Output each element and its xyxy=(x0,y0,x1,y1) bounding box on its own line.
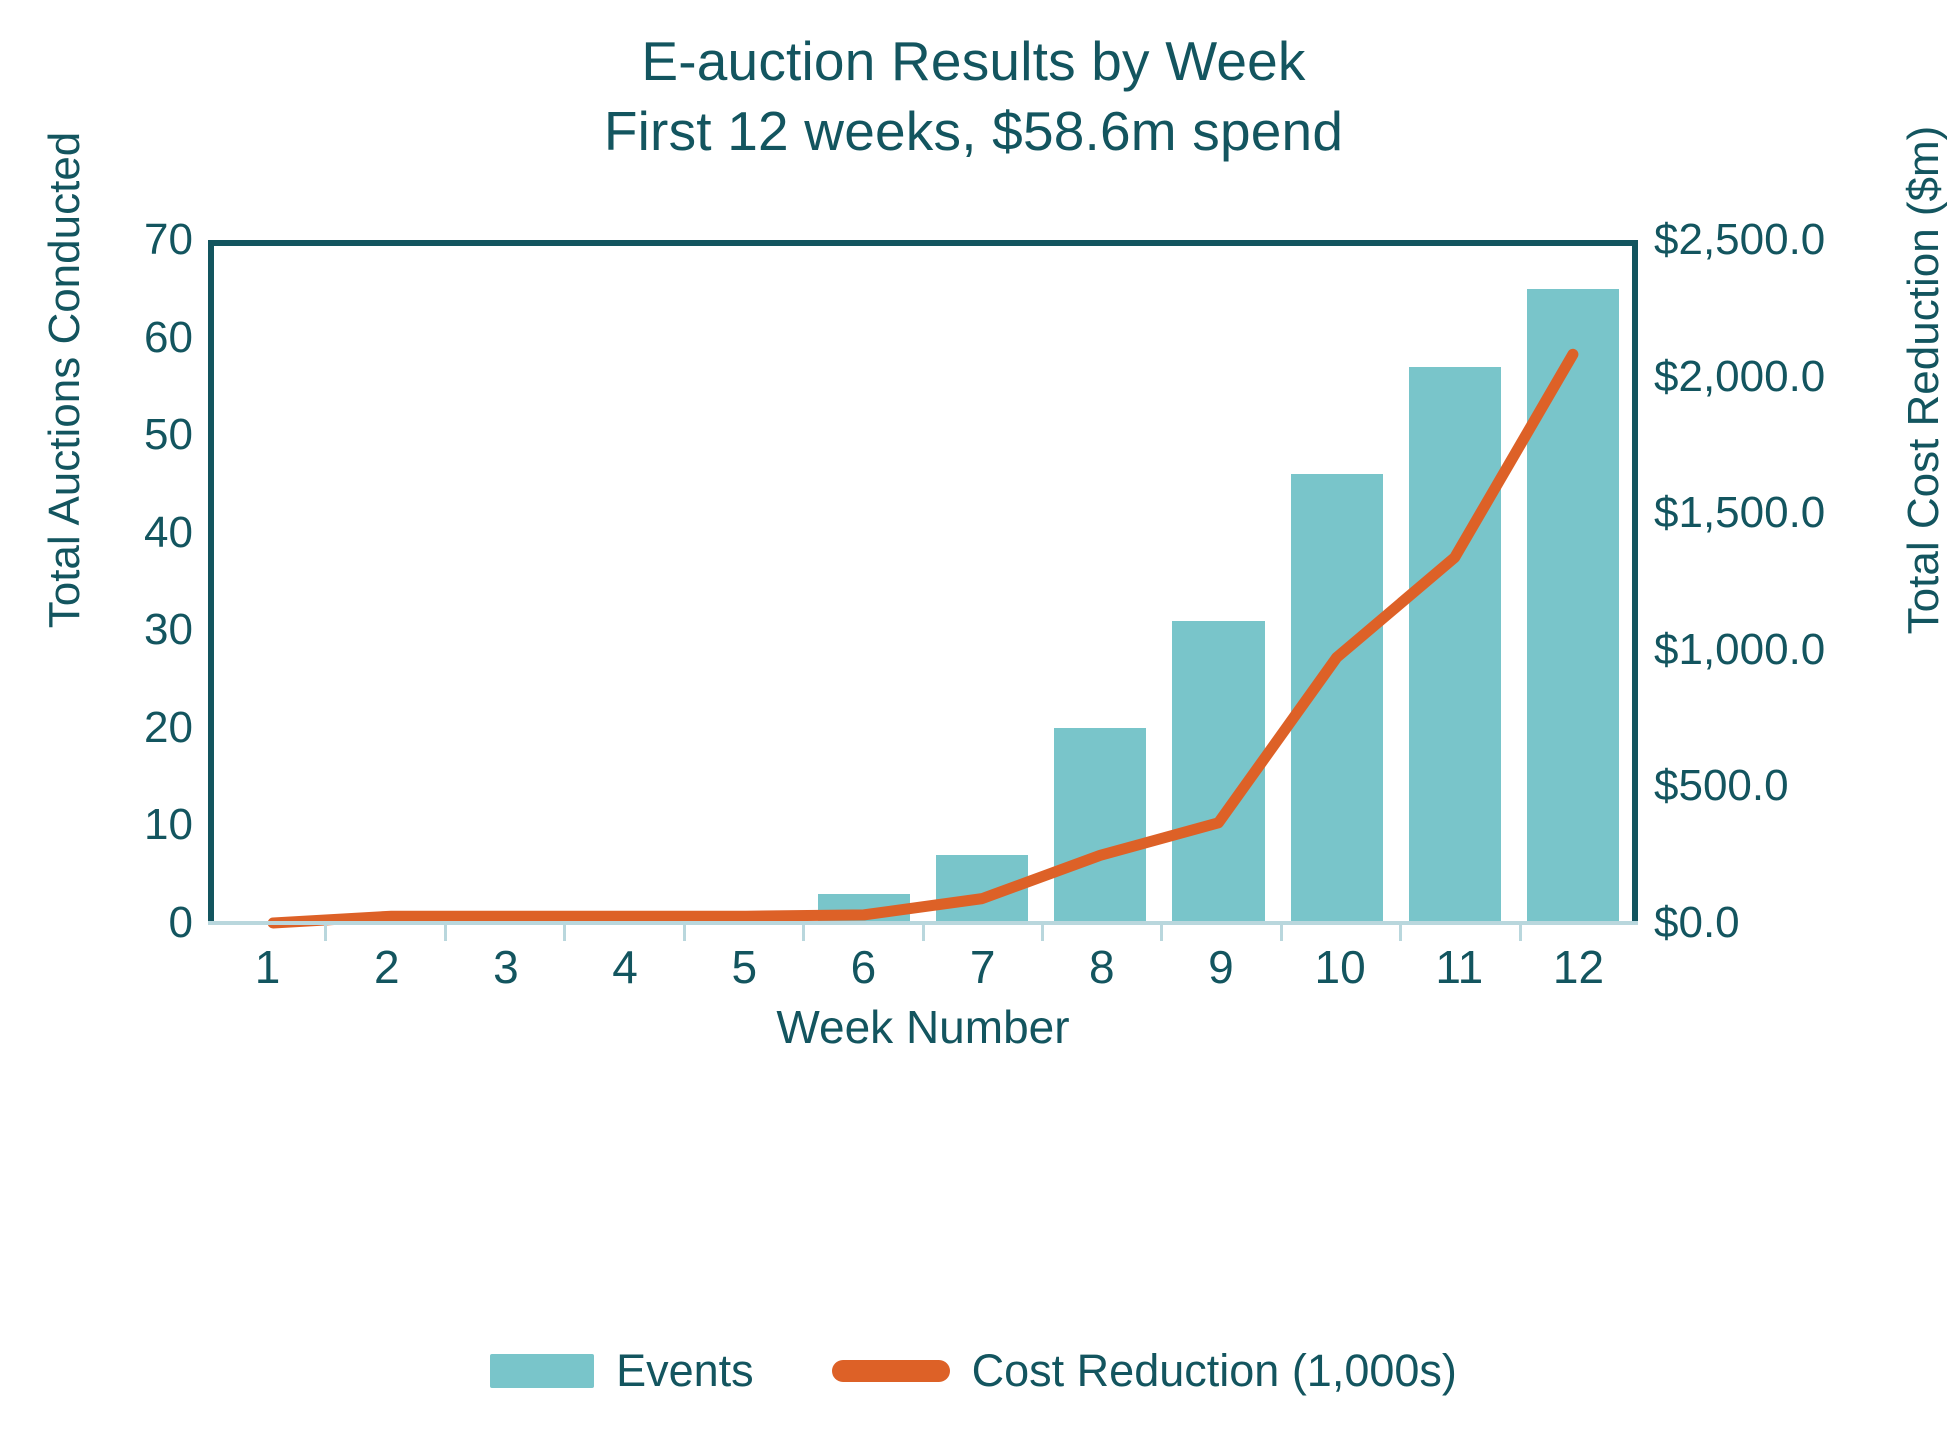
y-axis-left-ticks: 706050403020100 xyxy=(28,240,193,923)
y-axis-right-tick-label: $2,000.0 xyxy=(1654,352,1825,402)
x-axis-tick-label-5: 5 xyxy=(685,940,804,994)
y-axis-right-ticks: $2,500.0$2,000.0$1,500.0$1,000.0$500.0$0… xyxy=(1654,240,1884,923)
legend-label: Events xyxy=(616,1345,754,1397)
chart-title-line-1: E-auction Results by Week xyxy=(0,26,1947,96)
x-axis-tick-label-2: 2 xyxy=(327,940,446,994)
chart-title-line-2: First 12 weeks, $58.6m spend xyxy=(0,96,1947,166)
y-axis-left-tick-label: 40 xyxy=(144,508,193,558)
x-axis-tickmark xyxy=(208,925,324,941)
x-axis-title: Week Number xyxy=(208,1000,1638,1054)
chart-title: E-auction Results by Week First 12 weeks… xyxy=(0,26,1947,167)
y-axis-left-tick-label: 30 xyxy=(144,605,193,655)
plot-area xyxy=(208,240,1638,923)
y-axis-left-tick-label: 50 xyxy=(144,410,193,460)
x-axis-tickmark xyxy=(1519,925,1638,941)
x-axis-tickmark xyxy=(683,925,802,941)
y-axis-left-tick-label: 70 xyxy=(144,215,193,265)
chart-legend: EventsCost Reduction (1,000s) xyxy=(0,1345,1947,1397)
y-axis-right-tick-label: $2,500.0 xyxy=(1654,215,1825,265)
x-axis-tick-label-11: 11 xyxy=(1400,940,1519,994)
y-axis-left-tick-label: 0 xyxy=(169,898,193,948)
x-axis-tick-label-6: 6 xyxy=(804,940,923,994)
legend-line-swatch-icon xyxy=(832,1360,950,1382)
legend-bar-swatch-icon xyxy=(490,1354,594,1388)
chart-container: E-auction Results by Week First 12 weeks… xyxy=(0,0,1947,1452)
cost-reduction-polyline xyxy=(273,354,1573,923)
x-axis-tick-label-1: 1 xyxy=(208,940,327,994)
x-axis-tick-label-8: 8 xyxy=(1042,940,1161,994)
x-axis-tickmark xyxy=(1280,925,1399,941)
y-axis-left-tick-label: 10 xyxy=(144,800,193,850)
x-axis-tick-label-10: 10 xyxy=(1281,940,1400,994)
x-axis-tickmarks xyxy=(208,925,1638,941)
legend-label: Cost Reduction (1,000s) xyxy=(972,1345,1457,1397)
x-axis-tickmark xyxy=(802,925,921,941)
y-axis-right-tick-label: $500.0 xyxy=(1654,761,1789,811)
x-axis-tick-label-12: 12 xyxy=(1519,940,1638,994)
y-axis-right-tick-label: $1,000.0 xyxy=(1654,625,1825,675)
x-axis-tick-label-4: 4 xyxy=(566,940,685,994)
y-axis-right-tick-label: $1,500.0 xyxy=(1654,488,1825,538)
y-axis-right-tick-label: $0.0 xyxy=(1654,898,1740,948)
x-axis-tickmark xyxy=(563,925,682,941)
y-axis-right-title: Total Cost Reduction ($m) xyxy=(1899,70,1947,690)
x-axis-tickmark xyxy=(1041,925,1160,941)
y-axis-left-tick-label: 20 xyxy=(144,703,193,753)
x-axis-tickmark xyxy=(444,925,563,941)
x-axis-tick-label-7: 7 xyxy=(923,940,1042,994)
legend-item-2[interactable]: Cost Reduction (1,000s) xyxy=(832,1345,1457,1397)
x-axis-tick-label-9: 9 xyxy=(1161,940,1280,994)
line-series-cost-reduction xyxy=(214,246,1632,923)
legend-item-1[interactable]: Events xyxy=(490,1345,754,1397)
x-axis-tick-label-3: 3 xyxy=(446,940,565,994)
y-axis-left-tick-label: 60 xyxy=(144,313,193,363)
x-axis-tickmark xyxy=(1160,925,1279,941)
x-axis-tickmark xyxy=(922,925,1041,941)
x-axis-tick-labels: 123456789101112 xyxy=(208,940,1638,994)
x-axis-tickmark xyxy=(324,925,443,941)
x-axis-tickmark xyxy=(1399,925,1518,941)
line-series-svg xyxy=(214,246,1632,923)
